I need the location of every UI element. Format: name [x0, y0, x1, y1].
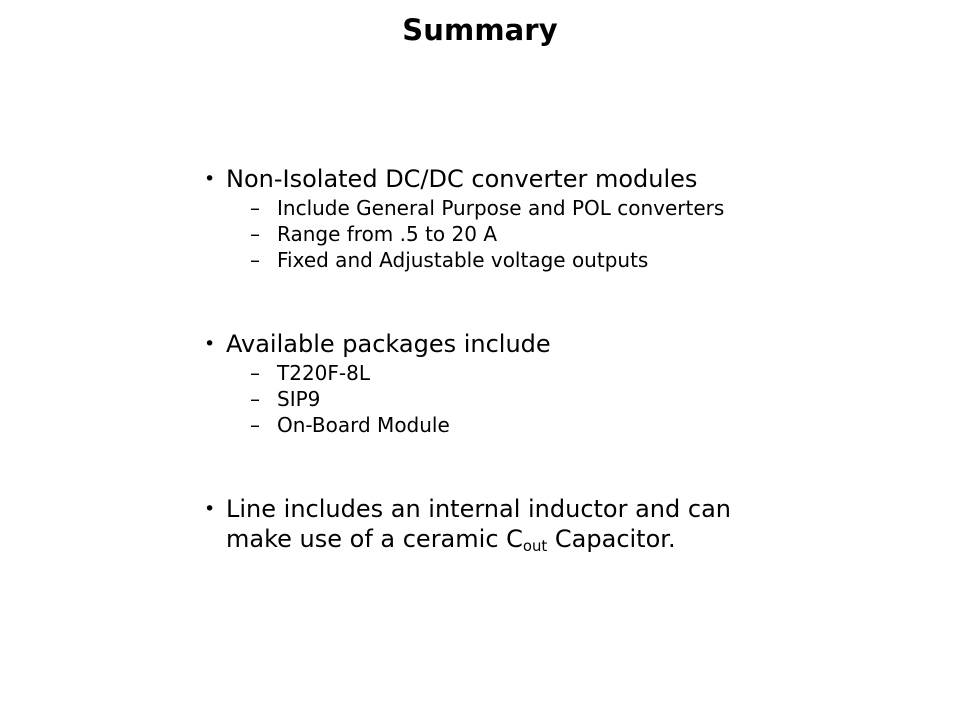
bullet-group-2: • Available packages include – T220F-8L …: [200, 329, 820, 438]
dash-marker-icon: –: [250, 360, 277, 386]
bullet-text: Non-Isolated DC/DC converter modules: [226, 164, 820, 194]
bullet-item: • Available packages include: [200, 329, 820, 359]
sub-bullet-list: – Include General Purpose and POL conver…: [200, 195, 820, 273]
sub-bullet-item: – Range from .5 to 20 A: [200, 221, 820, 247]
bullet-text: Available packages include: [226, 329, 820, 359]
sub-bullet-text: Include General Purpose and POL converte…: [277, 195, 820, 221]
slide-body: • Non-Isolated DC/DC converter modules –…: [200, 164, 820, 557]
bullet-text: Line includes an internal inductor and c…: [226, 494, 746, 557]
sub-bullet-text: SIP9: [277, 386, 820, 412]
bullet-item: • Non-Isolated DC/DC converter modules: [200, 164, 820, 194]
dash-marker-icon: –: [250, 221, 277, 247]
sub-bullet-item: – T220F-8L: [200, 360, 820, 386]
page-title: Summary: [0, 15, 960, 47]
bullet-marker-icon: •: [200, 329, 226, 359]
bullet-group-3: • Line includes an internal inductor and…: [200, 494, 820, 557]
sub-bullet-text: Range from .5 to 20 A: [277, 221, 820, 247]
dash-marker-icon: –: [250, 386, 277, 412]
dash-marker-icon: –: [250, 247, 277, 273]
sub-bullet-item: – Fixed and Adjustable voltage outputs: [200, 247, 820, 273]
sub-bullet-list: – T220F-8L – SIP9 – On-Board Module: [200, 360, 820, 438]
bullet-group-1: • Non-Isolated DC/DC converter modules –…: [200, 164, 820, 273]
slide: Summary • Non-Isolated DC/DC converter m…: [0, 0, 960, 720]
bullet-marker-icon: •: [200, 164, 226, 194]
subscript-out: out: [523, 537, 547, 555]
dash-marker-icon: –: [250, 195, 277, 221]
sub-bullet-item: – On-Board Module: [200, 412, 820, 438]
bullet-marker-icon: •: [200, 494, 226, 524]
sub-bullet-item: – Include General Purpose and POL conver…: [200, 195, 820, 221]
bullet-item: • Line includes an internal inductor and…: [200, 494, 820, 557]
sub-bullet-item: – SIP9: [200, 386, 820, 412]
sub-bullet-text: Fixed and Adjustable voltage outputs: [277, 247, 820, 273]
bullet-text-part2: Capacitor.: [547, 525, 675, 553]
sub-bullet-text: T220F-8L: [277, 360, 820, 386]
dash-marker-icon: –: [250, 412, 277, 438]
sub-bullet-text: On-Board Module: [277, 412, 820, 438]
